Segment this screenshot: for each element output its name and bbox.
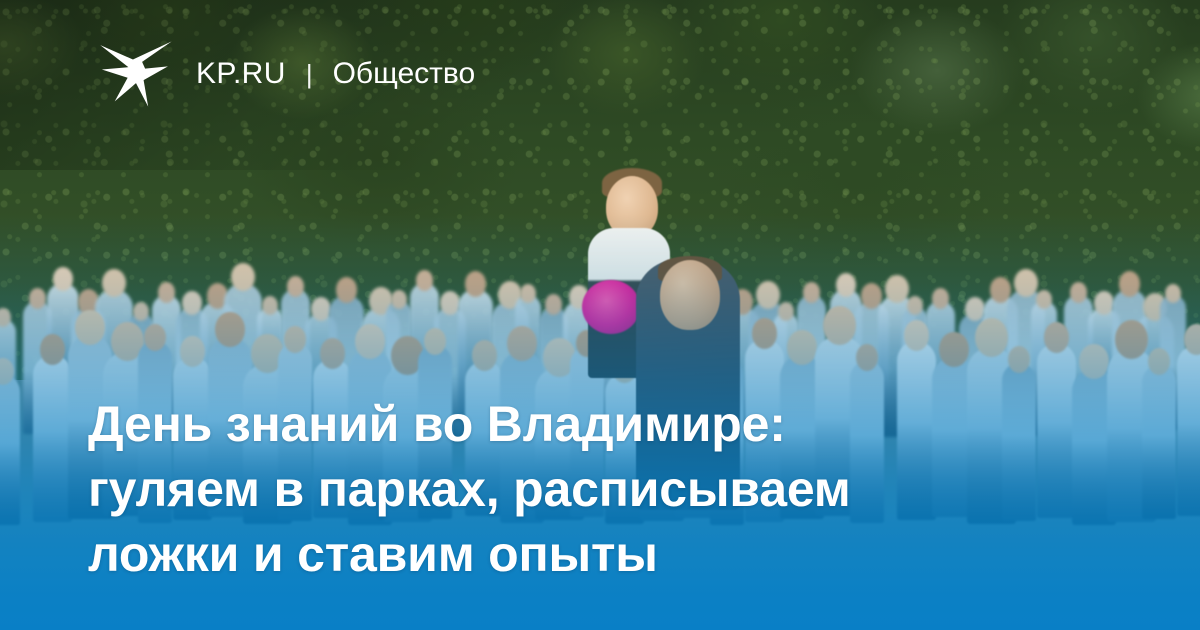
headline-line-1: День знаний во Владимире: bbox=[88, 392, 1048, 457]
headline-line-2: гуляем в парках, расписываем bbox=[88, 457, 1048, 522]
headline-line-3: ложки и ставим опыты bbox=[88, 522, 1048, 587]
header-separator: | bbox=[306, 59, 313, 90]
card-header: KP.RU | Общество bbox=[98, 36, 475, 112]
section-label: Общество bbox=[333, 57, 476, 91]
article-headline: День знаний во Владимире: гуляем в парка… bbox=[88, 392, 1048, 587]
kp-swallow-bird-icon bbox=[98, 36, 174, 112]
social-share-card: KP.RU | Общество День знаний во Владимир… bbox=[0, 0, 1200, 630]
brand-label: KP.RU bbox=[196, 57, 286, 91]
